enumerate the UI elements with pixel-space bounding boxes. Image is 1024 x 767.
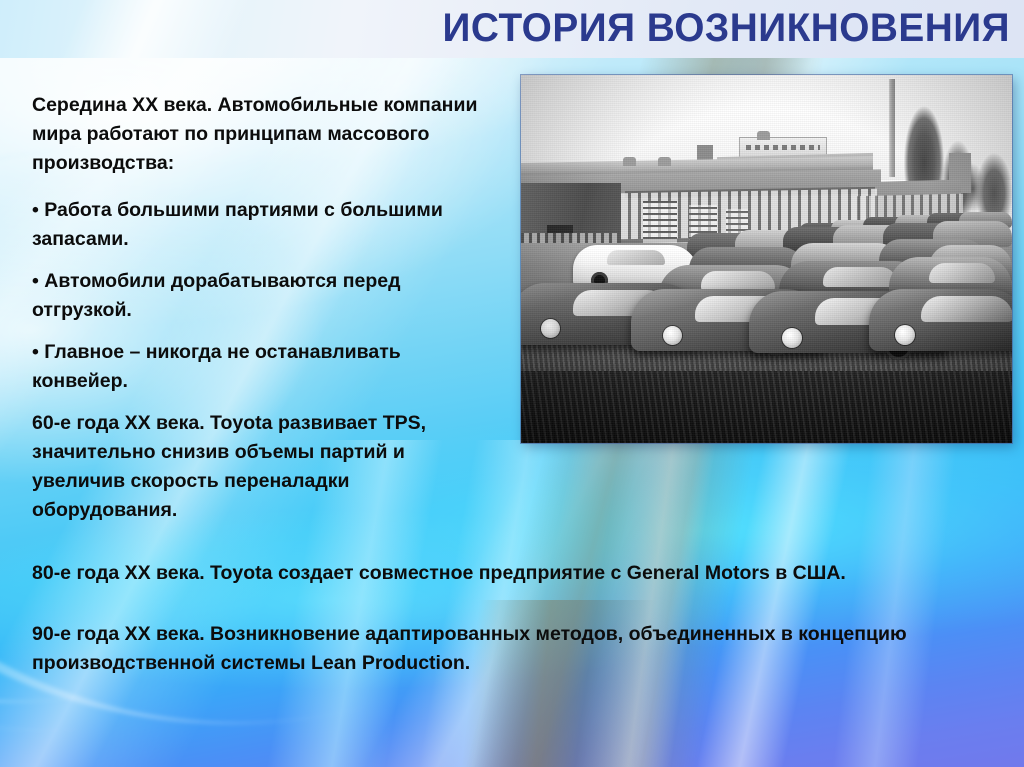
paragraph-era-1990s: 90-е года XX века. Возникновение адаптир… [32,620,992,678]
page-title: ИСТОРИЯ ВОЗНИКНОВЕНИЯ [442,2,1010,54]
photo-vignette [521,75,1012,443]
paragraph-era-1960s: 60-е года XX века. Toyota развивает TPS,… [32,409,472,525]
paragraph-intro: Середина XX века. Автомобильные компании… [32,91,482,178]
bullet-item-never-stop-conveyor: • Главное – никогда не останавливать кон… [32,338,482,396]
historical-photo-frame [521,75,1012,443]
bullet-item-large-batches: • Работа большими партиями с большими за… [32,196,482,254]
paragraph-era-1980s: 80-е года XX века. Toyota создает совмес… [32,559,1002,588]
slide-canvas: ИСТОРИЯ ВОЗНИКНОВЕНИЯ Середина XX века. … [0,0,1024,767]
slide-title-bar: ИСТОРИЯ ВОЗНИКНОВЕНИЯ [0,0,1024,58]
historical-photo-porsche-factory-lot [521,75,1012,443]
bullet-item-rework-before-shipment: • Автомобили дорабатываются перед отгруз… [32,267,482,325]
